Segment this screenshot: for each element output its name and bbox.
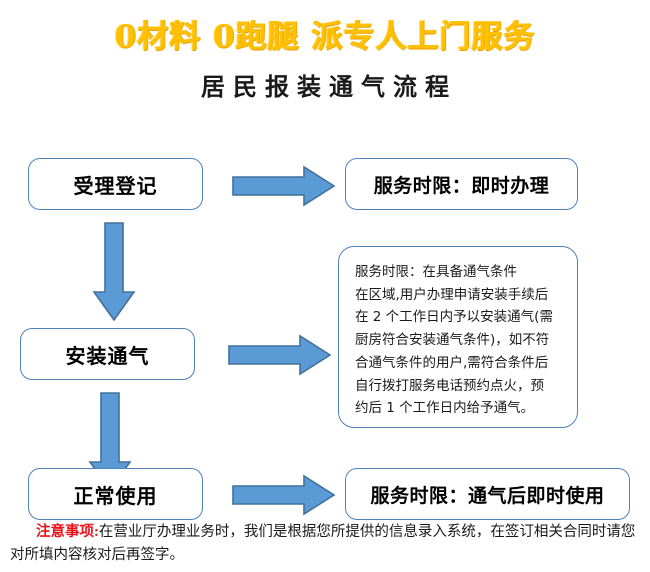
flow-result-intake-sla: 服务时限：即时办理 — [345, 158, 578, 210]
arrow-right-icon-3 — [232, 474, 336, 516]
arrow-down-icon-1 — [92, 222, 136, 322]
flow-result-install-sla: 服务时限：在具备通气条件 在区域,用户办理申请安装手续后 在 2 个工作日内予以… — [338, 246, 578, 428]
flow-node-install-label: 安装通气 — [66, 340, 150, 369]
flow-node-intake: 受理登记 — [28, 158, 203, 210]
page-subtitle: 居民报装通气流程 — [0, 72, 650, 104]
flow-node-install: 安装通气 — [20, 328, 195, 380]
flow-node-use-label: 正常使用 — [74, 480, 158, 509]
flowchart-page: 0材料 0跑腿 派专人上门服务 居民报装通气流程 受理登记 服务时限：即时办理 … — [0, 0, 650, 572]
footer-note-text: 在营业厅办理业务时，我们是根据您所提供的信息录入系统，在签订相关合同时请您对所填… — [10, 524, 635, 563]
flow-node-intake-label: 受理登记 — [74, 170, 158, 199]
arrow-right-icon-2 — [228, 334, 332, 376]
footer-note: 注意事项:在营业厅办理业务时，我们是根据您所提供的信息录入系统，在签订相关合同时… — [10, 521, 642, 567]
flow-result-install-sla-label: 服务时限：在具备通气条件 在区域,用户办理申请安装手续后 在 2 个工作日内予以… — [355, 261, 561, 420]
arrow-right-icon-1 — [232, 165, 336, 207]
footer-note-label: 注意事项: — [36, 524, 99, 540]
page-title: 0材料 0跑腿 派专人上门服务 — [0, 18, 650, 56]
flow-result-use-sla-label: 服务时限：通气后即时使用 — [370, 481, 604, 508]
flow-node-use: 正常使用 — [28, 468, 203, 520]
flow-result-intake-sla-label: 服务时限：即时办理 — [374, 171, 550, 198]
flow-result-use-sla: 服务时限：通气后即时使用 — [345, 468, 630, 520]
